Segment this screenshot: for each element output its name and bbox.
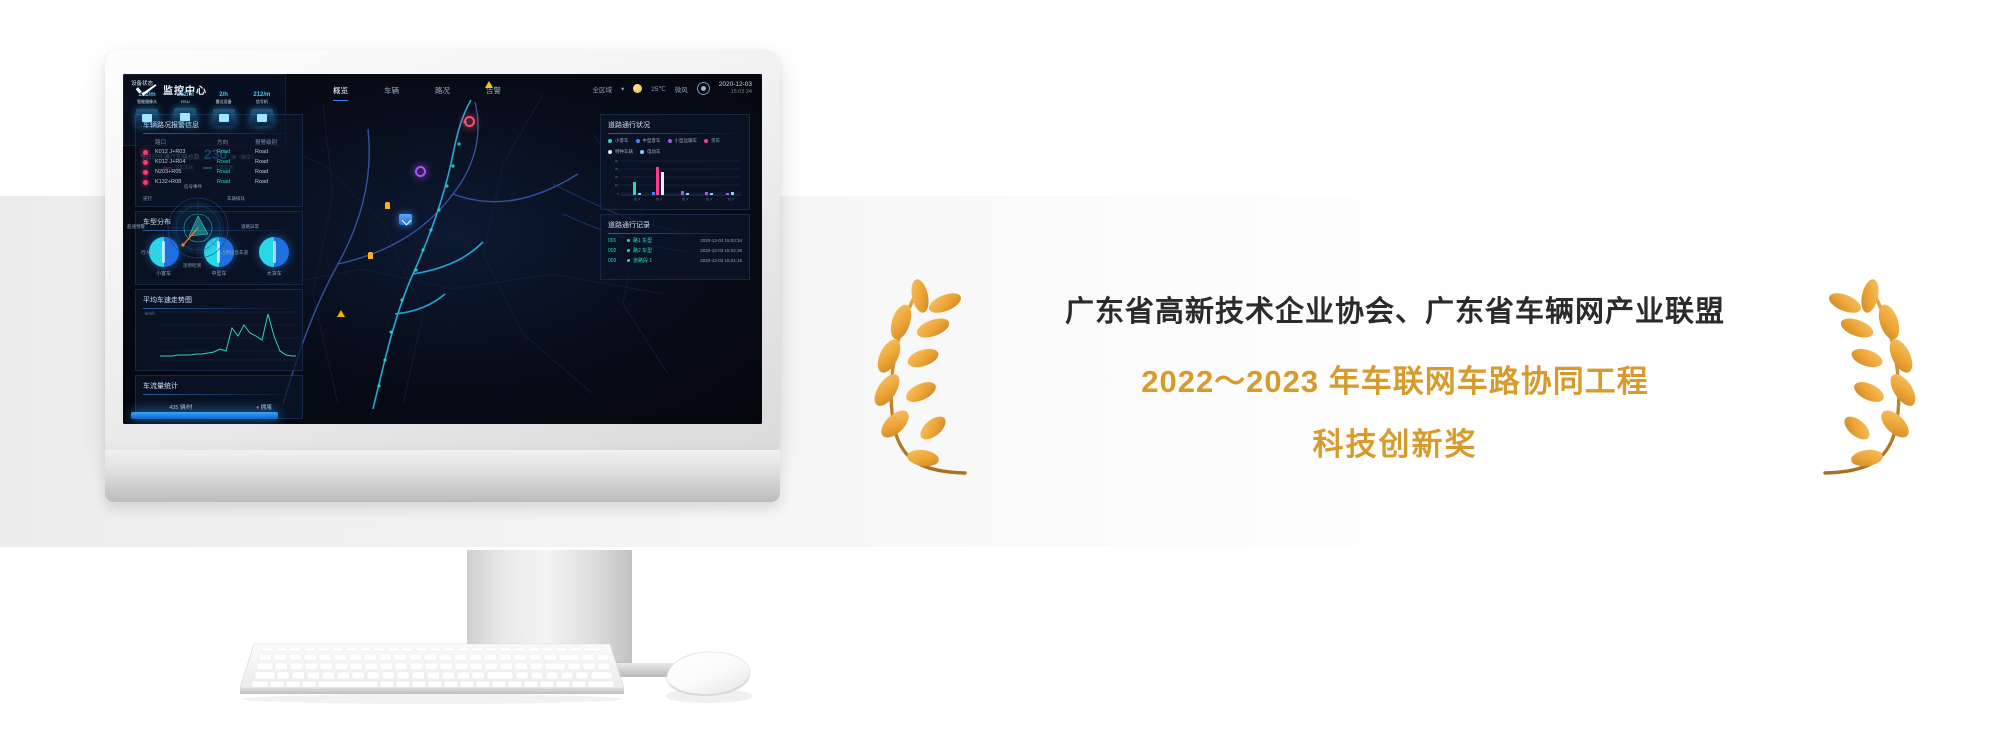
svg-text:路口4: 路口4 [706, 197, 713, 201]
camera-icon [136, 109, 158, 126]
table-row[interactable]: K012 J+R04 Road Road [143, 159, 295, 165]
map-pin-alert-1[interactable] [464, 116, 475, 127]
svg-text:0: 0 [617, 192, 619, 196]
traffic-stat-title: 车流量统计 [136, 376, 302, 394]
svg-text:路口2: 路口2 [656, 197, 663, 201]
legend-label: 小客车 [615, 138, 629, 144]
award-name: 科技创新奖 [1003, 419, 1787, 464]
award-text-block: 广东省高新技术企业协会、广东省车辆网产业联盟 2022～2023 年车联网车路协… [1003, 288, 1787, 464]
dashboard-nav: 概览 车辆 路况 告警 [333, 85, 501, 96]
chevron-down-icon[interactable]: ▾ [621, 85, 624, 93]
record-index: 002 [608, 248, 622, 254]
road-condition-panel: 道路通行状况 小客车 中型客车 小型运输车 货车 特种车辆 电动车 [600, 114, 750, 210]
award-organizations: 广东省高新技术企业协会、广东省车辆网产业联盟 [1003, 288, 1787, 330]
record-timestamp: 2020-12-03 15:01:15 [700, 258, 742, 263]
dashboard-header: 监控中心 概览 车辆 路况 告警 全区域 ▾ [123, 74, 762, 108]
record-name: 路1 车型 [633, 237, 652, 244]
status-dot-icon [143, 150, 148, 155]
radar-label-5: 行人闯入 [141, 250, 159, 256]
record-name: 路2 车型 [633, 247, 652, 254]
record-name-wrap: 路2 车型 [627, 247, 695, 254]
nav-item-vehicles[interactable]: 车辆 [384, 85, 399, 96]
map-pin-marker-2[interactable] [385, 202, 390, 209]
legend-item[interactable]: 货车 [704, 138, 720, 144]
current-date: 2020-12-03 [719, 81, 752, 89]
alarm-table-header: 路口 方向 报警级别 [143, 138, 295, 146]
bullet-icon [627, 259, 630, 262]
svg-text:30: 30 [615, 167, 618, 171]
check-logo-icon [135, 83, 157, 97]
current-time: 15:03:24 [719, 89, 752, 96]
legend-label: 小型运输车 [675, 138, 698, 144]
speed-trend-chart [152, 308, 296, 364]
award-banner: 广东省高新技术企业协会、广东省车辆网产业联盟 2022～2023 年车联网车路协… [865, 258, 1925, 493]
sun-icon [633, 84, 642, 93]
alarm-row-direction: Road [217, 159, 255, 165]
alarm-row-direction: Road [217, 149, 255, 155]
bullet-icon [627, 249, 630, 252]
status-dot-icon [143, 160, 148, 165]
page-root: 监控中心 概览 车辆 路况 告警 全区域 ▾ [0, 0, 1993, 754]
map-pin-marker-1[interactable] [368, 252, 373, 259]
nav-item-road[interactable]: 路况 [435, 85, 450, 96]
table-row[interactable]: K012 J+R03 Road Road [143, 149, 295, 155]
record-timestamp: 2020-12-03 15:02:26 [700, 248, 742, 253]
map-pin-camera[interactable] [399, 214, 412, 225]
radar-label-7: 逆行 [143, 196, 152, 202]
speed-trend-title: 平均车速走势图 [136, 290, 302, 308]
wind-label: 微风 [675, 84, 688, 94]
signal-light-icon [251, 109, 273, 126]
brand-name: 监控中心 [163, 82, 207, 97]
svg-text:20: 20 [615, 175, 618, 179]
alarm-row-id: K012 J+R04 [155, 159, 217, 165]
alarm-row-id: K012 J+R03 [155, 149, 217, 155]
rsu-icon [174, 108, 196, 125]
event-radar-panel: 信号事件 车辆排队 道路异常 占用应急车道 违停检测 行人闯入 超速预警 逆行 [123, 172, 273, 274]
legend-item[interactable]: 中型客车 [636, 138, 661, 144]
legend-item[interactable]: 特种车辆 [608, 149, 633, 155]
legend-item[interactable]: 小客车 [608, 138, 629, 144]
laurel-branch-left-icon [865, 276, 985, 476]
speed-trend-panel: 平均车速走势图 km/h [135, 289, 303, 371]
road-condition-title: 道路通行状况 [601, 115, 749, 133]
nav-item-overview[interactable]: 概览 [333, 85, 348, 96]
monitor-screen: 监控中心 概览 车辆 路况 告警 全区域 ▾ [123, 74, 762, 424]
mouse[interactable] [655, 644, 760, 708]
record-timestamp: 2020-12-03 15:03:34 [700, 238, 742, 243]
stat-value: 435 辆/时 [165, 403, 197, 411]
svg-text:路口1: 路口1 [634, 197, 641, 201]
svg-text:路口5: 路口5 [728, 197, 735, 201]
legend-label: 特种车辆 [615, 149, 633, 155]
legend-item[interactable]: 小型运输车 [668, 138, 698, 144]
svg-text:路口3: 路口3 [682, 197, 689, 201]
record-name: 道路段 1 [633, 257, 652, 264]
radar-icon [213, 109, 235, 126]
record-index: 001 [608, 238, 622, 244]
radar-label-4: 违停检测 [183, 263, 201, 269]
alarm-col-direction: 方向 [217, 138, 255, 146]
bullet-icon [627, 239, 630, 242]
laurel-branch-right-icon [1805, 276, 1925, 476]
legend-label: 货车 [711, 138, 720, 144]
road-condition-bar-chart: 4030 20100 [611, 159, 741, 203]
legend-label: 中型客车 [643, 138, 661, 144]
keyboard[interactable] [232, 634, 632, 706]
alarm-col-intersection: 路口 [155, 138, 217, 146]
radar-label-6: 超速预警 [127, 224, 145, 230]
map-pin-warning[interactable] [337, 310, 345, 317]
legend-item[interactable]: 电动车 [640, 149, 661, 155]
monitor-chin [105, 450, 780, 502]
device-card-platform [131, 412, 278, 419]
brand-logo[interactable]: 监控中心 [135, 82, 207, 97]
radar-label-3: 占用应急车道 [221, 250, 248, 256]
radar-label-0: 信号事件 [184, 184, 202, 190]
alarm-row-level: Road [255, 149, 295, 155]
record-name-wrap: 路1 车型 [627, 237, 695, 244]
event-radar-wrap: 信号事件 车辆排队 道路异常 占用应急车道 违停检测 行人闯入 超速预警 逆行 [123, 172, 273, 274]
legend-label: 电动车 [647, 149, 661, 155]
region-selector-label[interactable]: 全区域 [592, 84, 612, 94]
pass-record-panel: 道路通行记录 001 路1 车型 2020-12-03 15:03:34 002… [600, 214, 750, 280]
datetime-display: 2020-12-03 15:03:24 [719, 81, 752, 96]
status-dot-icon: ● [256, 405, 259, 411]
record-index: 003 [608, 258, 622, 264]
radar-label-1: 车辆排队 [227, 196, 245, 202]
dashboard-root: 监控中心 概览 车辆 路况 告警 全区域 ▾ [123, 74, 762, 424]
list-item[interactable]: 001 路1 车型 2020-12-03 15:03:34 [601, 234, 749, 244]
nav-item-alerts[interactable]: 告警 [486, 85, 501, 96]
svg-text:10: 10 [615, 183, 618, 187]
radar-label-2: 道路异常 [241, 224, 259, 230]
svg-text:40: 40 [615, 159, 618, 163]
user-avatar-icon[interactable] [697, 82, 710, 95]
list-item[interactable]: 003 道路段 1 2020-12-03 15:01:15 [601, 254, 749, 264]
bar-chart-legend: 小客车 中型客车 小型运输车 货车 特种车辆 电动车 [601, 134, 749, 157]
desktop-monitor: 监控中心 概览 车辆 路况 告警 全区域 ▾ [105, 50, 780, 502]
pass-record-title: 道路通行记录 [601, 215, 749, 233]
status-badge: 拥堵 [261, 405, 272, 411]
map-pin-alert-2[interactable] [415, 166, 426, 177]
dashboard-header-right: 全区域 ▾ 25℃ 微风 2020-12-03 15:03:24 [592, 81, 752, 96]
alert-warning-icon [485, 81, 493, 88]
award-period-title: 2022～2023 年车联网车路协同工程 [1003, 356, 1787, 401]
weather-temperature: 25℃ [651, 85, 666, 93]
record-name-wrap: 道路段 1 [627, 257, 695, 264]
list-item[interactable]: 002 路2 车型 2020-12-03 15:02:26 [601, 244, 749, 254]
alarm-row-level: Road [255, 159, 295, 165]
alarm-col-level: 报警级别 [255, 138, 295, 146]
